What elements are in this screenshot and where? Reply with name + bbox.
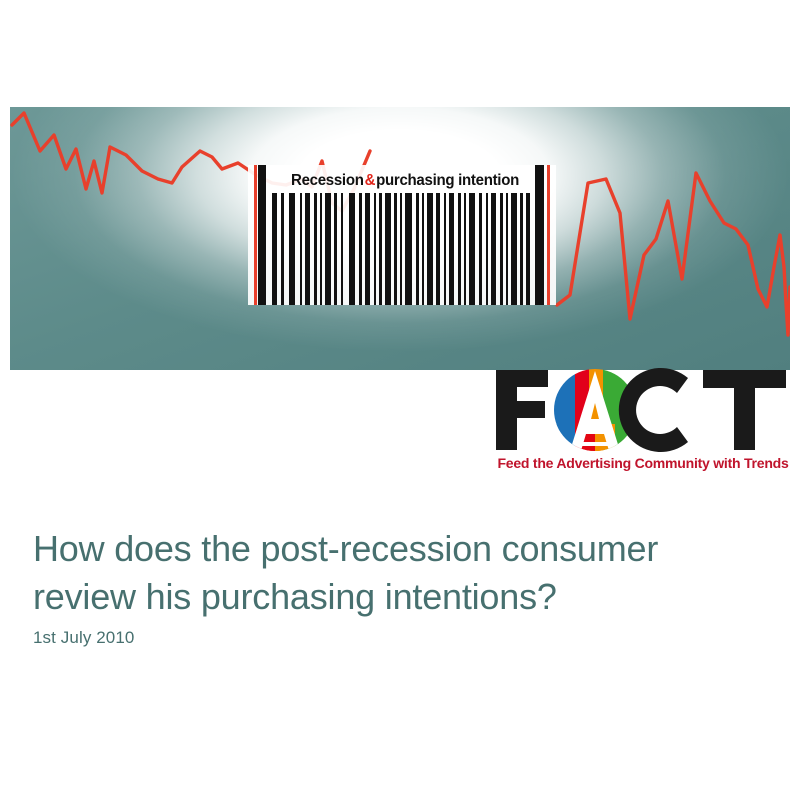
page-title-line-1: How does the post-recession consumer [33,528,658,569]
fact-wordmark [492,366,790,454]
barcode-guard-left [254,165,257,305]
letter-c-icon [619,368,688,452]
barcode-title-text: Recession & purchasing intention [273,170,537,192]
barcode-guard-right [547,165,550,305]
fact-wordmark-svg [492,366,790,454]
fact-logo-tagline: Feed the Advertising Community with Tren… [497,456,788,472]
barcode-title-prefix: Recession [291,172,364,190]
barcode-title-suffix: purchasing intention [376,172,519,190]
chart-line-right [557,173,790,335]
letter-t-icon [703,370,786,450]
hero-banner-image: Recession & purchasing intention [10,107,790,370]
fact-logo: Feed the Advertising Community with Tren… [492,366,790,478]
barcode-graphic: Recession & purchasing intention [248,165,556,305]
page-title: How does the post-recession consumer rev… [33,525,763,621]
barcode-title-ampersand: & [364,172,377,190]
presentation-date: 1st July 2010 [33,628,134,648]
title-slide: Recession & purchasing intention [0,0,800,800]
letter-f-icon [496,370,548,450]
page-title-line-2: review his purchasing intentions? [33,573,763,621]
